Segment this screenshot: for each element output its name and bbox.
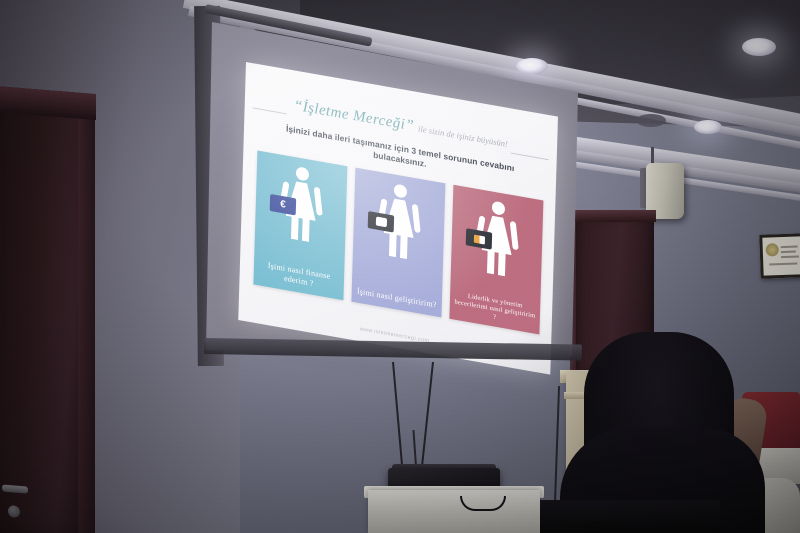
- slide-panel-finance: € İşimi nasıl finanse ederim ?: [253, 150, 347, 300]
- downlight-left-icon: [694, 120, 722, 134]
- door-lock-icon[interactable]: [8, 505, 20, 518]
- slide-panel-grow: İşimi nasıl geliştiririm?: [351, 168, 445, 318]
- slide-panel-leadership: Liderlik ve yönetim becerilerimi nasıl g…: [449, 185, 543, 335]
- woman-with-euro-briefcase-icon: €: [278, 161, 324, 245]
- ceiling-vent: [636, 114, 666, 127]
- woman-with-dark-briefcase-icon: [474, 196, 520, 280]
- door-right-header: [572, 210, 656, 222]
- downlight-center-icon: [516, 58, 548, 74]
- seminar-room-photo: “İşletme Merceği” ile sizin de işiniz bü…: [0, 0, 800, 533]
- slide-panel-caption: Liderlik ve yönetim becerilerimi nasıl g…: [453, 290, 538, 329]
- projector-table: [368, 490, 540, 533]
- woman-with-chart-briefcase-icon: [376, 179, 422, 263]
- slide-panel-caption: İşimi nasıl geliştiririm?: [355, 286, 439, 311]
- euro-briefcase-icon: €: [270, 194, 297, 216]
- slide-content: “İşletme Merceği” ile sizin de işiniz bü…: [238, 62, 558, 375]
- slide-title-sub: ile sizin de işiniz büyüsün!: [418, 123, 508, 149]
- downlight-right-icon: [742, 38, 776, 56]
- dark-briefcase-icon: [466, 228, 493, 250]
- framed-plaque: [759, 233, 800, 279]
- plaque-seal-icon: [766, 243, 779, 256]
- slide-panel-caption: İşimi nasıl finanse ederim ?: [257, 259, 342, 294]
- chart-briefcase-icon: [368, 211, 395, 233]
- foreground-shadow: [540, 500, 720, 533]
- door-handle-icon[interactable]: [2, 484, 28, 493]
- door-left-frame: [78, 94, 95, 533]
